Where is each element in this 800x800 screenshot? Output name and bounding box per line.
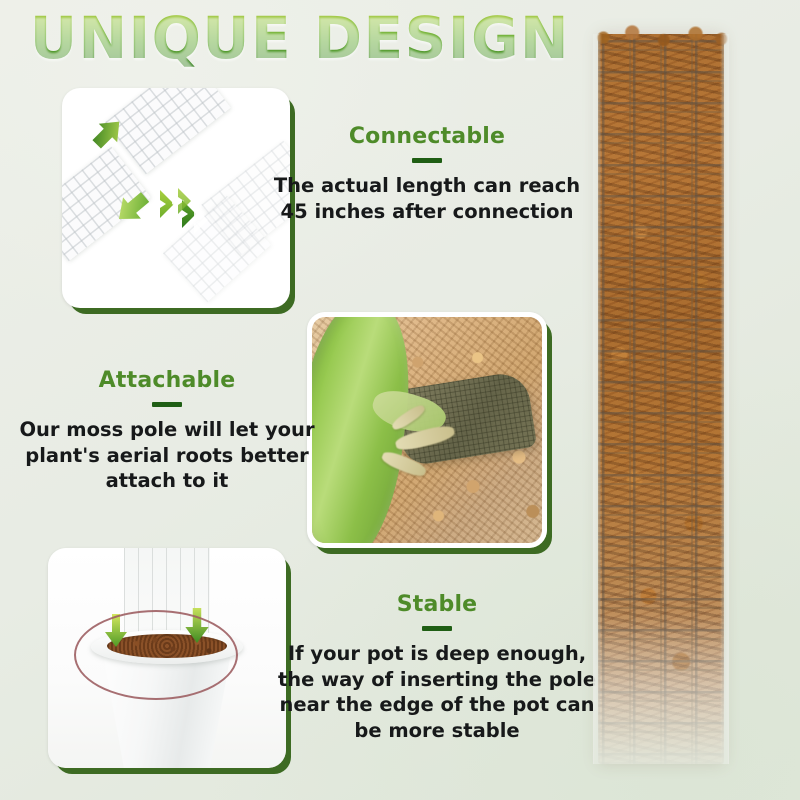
pot-rim-highlight-ellipse	[74, 610, 238, 700]
feature-title-stable: Stable	[272, 592, 602, 617]
card-stable-illustration	[48, 548, 286, 768]
feature-body-attachable: Our moss pole will let your plant's aeri…	[8, 417, 326, 494]
connect-illustration-inner	[62, 88, 290, 308]
connect-chevron-group	[158, 186, 226, 250]
feature-divider-stable	[422, 626, 452, 631]
feature-title-attachable: Attachable	[8, 368, 326, 393]
page-title-container: UNIQUE DESIGN	[0, 8, 600, 69]
card-connectable-illustration	[62, 88, 290, 308]
feature-divider-attachable	[152, 402, 182, 407]
feature-stable: Stable If your pot is deep enough, the w…	[272, 592, 602, 744]
feature-attachable: Attachable Our moss pole will let your p…	[8, 368, 326, 494]
card-attachable-photo	[307, 312, 547, 548]
feature-connectable: Connectable The actual length can reach …	[262, 124, 592, 224]
feature-body-stable: If your pot is deep enough, the way of i…	[272, 641, 602, 744]
infographic-canvas: UNIQUE DESIGN	[0, 0, 800, 800]
feature-title-connectable: Connectable	[262, 124, 592, 149]
attach-photo-inner	[307, 312, 547, 548]
moss-pole-bottom-fade	[594, 614, 728, 764]
page-title: UNIQUE DESIGN	[30, 8, 570, 69]
feature-divider-connectable	[412, 158, 442, 163]
feature-body-connectable: The actual length can reach 45 inches af…	[262, 173, 592, 224]
stable-illustration-inner	[48, 548, 286, 768]
moss-pole-product-image	[598, 34, 724, 764]
moss-pole-top-tuft	[589, 22, 733, 48]
